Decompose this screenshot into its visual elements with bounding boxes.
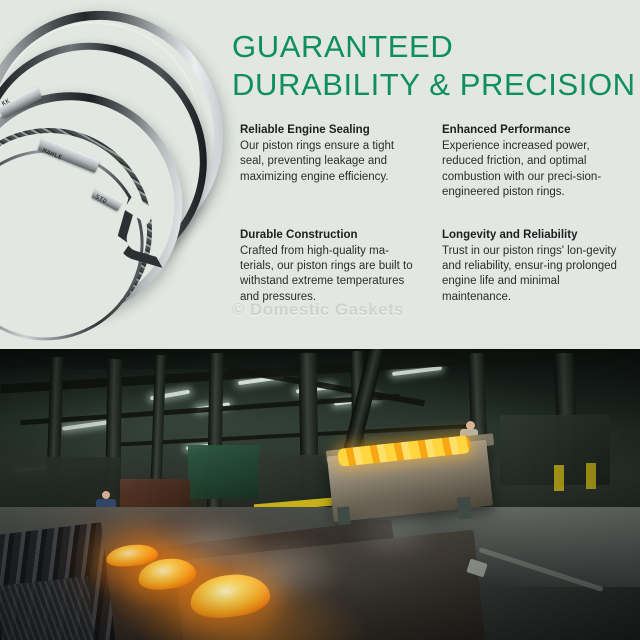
feature-body: Experience increased power, reduced fric…: [442, 139, 618, 201]
feature-title: Durable Construction: [240, 227, 420, 243]
feature-title: Enhanced Performance: [442, 122, 618, 138]
feature-durable-construction: Durable Construction Crafted from high-q…: [240, 227, 438, 306]
feature-enhanced-performance: Enhanced Performance Experience increase…: [438, 122, 636, 201]
feature-body: Our piston rings ensure a tight seal, pr…: [240, 139, 420, 185]
top-content-panel: KK MAHLE STD GUARANTEED DURABILITY & PRE…: [0, 0, 640, 349]
photo-vignette: [0, 349, 640, 640]
feature-title: Longevity and Reliability: [442, 227, 618, 243]
feature-reliable-engine-sealing: Reliable Engine Sealing Our piston rings…: [240, 122, 438, 201]
feature-row-1: Reliable Engine Sealing Our piston rings…: [240, 122, 636, 201]
ad-banner: KK MAHLE STD GUARANTEED DURABILITY & PRE…: [0, 0, 640, 640]
headline-line-1: GUARANTEED: [232, 28, 632, 66]
feature-body: Crafted from high-quality ma-terials, ou…: [240, 244, 420, 306]
foundry-photo: 15: [0, 349, 640, 640]
feature-row-spacer: [240, 201, 636, 227]
feature-body: Trust in our piston rings' lon-gevity an…: [442, 244, 618, 306]
headline-line-2: DURABILITY & PRECISION: [232, 66, 632, 104]
piston-ring-set-image: KK MAHLE STD: [0, 4, 224, 326]
feature-grid: Reliable Engine Sealing Our piston rings…: [240, 122, 636, 305]
feature-row-2: Durable Construction Crafted from high-q…: [240, 227, 636, 306]
feature-title: Reliable Engine Sealing: [240, 122, 420, 138]
feature-longevity-and-reliability: Longevity and Reliability Trust in our p…: [438, 227, 636, 306]
headline: GUARANTEED DURABILITY & PRECISION: [232, 28, 632, 104]
